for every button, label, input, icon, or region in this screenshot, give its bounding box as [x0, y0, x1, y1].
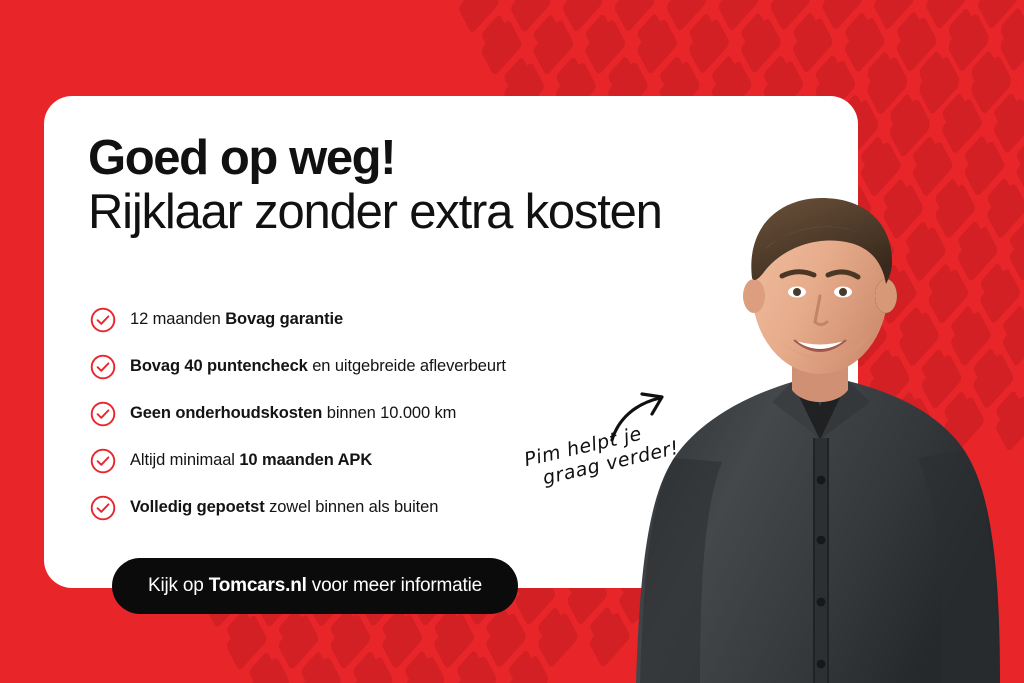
headline-line-1: Goed op weg!: [88, 134, 828, 184]
benefit-text: Altijd minimaal 10 maanden APK: [130, 451, 372, 470]
cta-button[interactable]: Kijk op Tomcars.nl voor meer informatie: [112, 558, 518, 614]
check-circle-icon: [90, 495, 116, 521]
benefit-item-2: Bovag 40 puntencheck en uitgebreide afle…: [90, 343, 710, 390]
advertisement-banner: Goed op weg! Rijklaar zonder extra koste…: [0, 0, 1024, 683]
check-circle-icon: [90, 448, 116, 474]
check-circle-icon: [90, 354, 116, 380]
benefit-item-5: Volledig gepoetst zowel binnen als buite…: [90, 484, 710, 531]
headline-block: Goed op weg! Rijklaar zonder extra koste…: [88, 134, 828, 239]
benefit-item-1: 12 maanden Bovag garantie: [90, 296, 710, 343]
benefit-text: Bovag 40 puntencheck en uitgebreide afle…: [130, 357, 506, 376]
benefit-item-4: Altijd minimaal 10 maanden APK: [90, 437, 710, 484]
check-circle-icon: [90, 401, 116, 427]
benefits-list: 12 maanden Bovag garantieBovag 40 punten…: [90, 296, 710, 531]
cta-button-label: Kijk op Tomcars.nl voor meer informatie: [148, 575, 482, 597]
benefit-text: Volledig gepoetst zowel binnen als buite…: [130, 498, 438, 517]
benefit-text: 12 maanden Bovag garantie: [130, 310, 343, 329]
content-card: Goed op weg! Rijklaar zonder extra koste…: [44, 96, 858, 588]
headline-line-2: Rijklaar zonder extra kosten: [88, 186, 828, 239]
benefit-text: Geen onderhoudskosten binnen 10.000 km: [130, 404, 456, 423]
check-circle-icon: [90, 307, 116, 333]
benefit-item-3: Geen onderhoudskosten binnen 10.000 km: [90, 390, 710, 437]
